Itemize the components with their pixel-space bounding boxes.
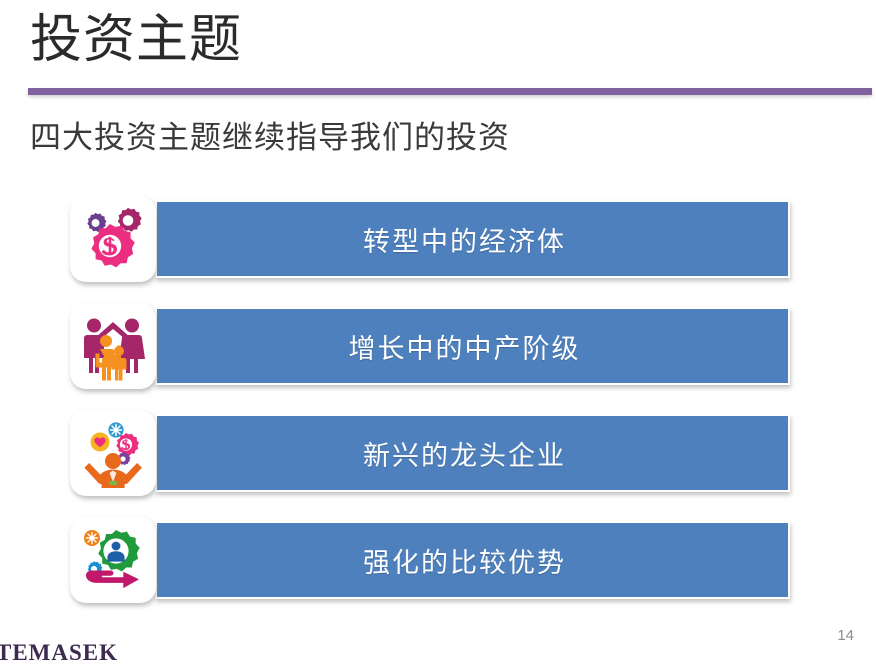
theme-bar-2[interactable]: 增长中的中产阶级: [155, 307, 790, 385]
theme-bar-4[interactable]: 强化的比较优势: [155, 521, 790, 599]
list-item[interactable]: 新兴的龙头企业: [0, 410, 876, 496]
theme-bar-3[interactable]: 新兴的龙头企业: [155, 414, 790, 492]
person-raised-arms-icons-icon: [70, 410, 156, 496]
slide: 投资主题 四大投资主题继续指导我们的投资 转型中的经济体: [0, 0, 876, 670]
hand-gear-person-icon: [70, 517, 156, 603]
theme-label: 强化的比较优势: [363, 541, 566, 580]
list-item[interactable]: 强化的比较优势: [0, 517, 876, 603]
title-divider: [28, 88, 872, 95]
family-house-icon: [70, 303, 156, 389]
list-item[interactable]: 转型中的经济体: [0, 196, 876, 282]
slide-subtitle: 四大投资主题继续指导我们的投资: [30, 112, 510, 157]
theme-bar-1[interactable]: 转型中的经济体: [155, 200, 790, 278]
gears-dollar-icon: [70, 196, 156, 282]
list-item[interactable]: 增长中的中产阶级: [0, 303, 876, 389]
theme-label: 转型中的经济体: [363, 220, 566, 259]
temasek-logo: TEMASEK: [0, 640, 118, 666]
theme-list: 转型中的经济体: [0, 196, 876, 624]
page-number: 14: [837, 627, 854, 644]
theme-label: 增长中的中产阶级: [349, 327, 581, 366]
page-title: 投资主题: [30, 8, 242, 73]
theme-label: 新兴的龙头企业: [363, 434, 566, 473]
